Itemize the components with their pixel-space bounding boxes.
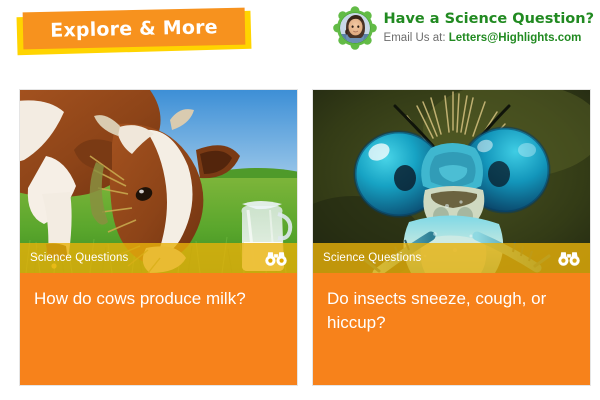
ask-a-science-question-block[interactable]: Have a Science Question? Email Us at: Le… [333, 6, 594, 50]
binoculars-icon [265, 251, 287, 266]
email-address-link[interactable]: Letters@Highlights.com [449, 32, 582, 44]
page-header: Explore & More [0, 0, 600, 78]
card-title[interactable]: How do cows produce milk? [20, 273, 297, 311]
banner-orange-plate: Explore & More [23, 8, 246, 50]
ask-email-line: Email Us at: Letters@Highlights.com [384, 30, 594, 46]
card-photo-insect: Science Questions [313, 90, 590, 273]
banner-label: Explore & More [50, 16, 218, 42]
email-prefix-label: Email Us at: [384, 32, 446, 44]
child-photo-badge-icon [333, 6, 377, 50]
article-card-cow[interactable]: Science Questions How do cows produce mi… [20, 90, 297, 385]
card-category-bar[interactable]: Science Questions [20, 243, 297, 273]
article-card-insect[interactable]: Science Questions Do insects sneeze, cou… [313, 90, 590, 385]
ask-text-group: Have a Science Question? Email Us at: Le… [384, 10, 594, 46]
card-category-label: Science Questions [30, 252, 265, 264]
card-photo-cow: Science Questions [20, 90, 297, 273]
binoculars-icon [558, 251, 580, 266]
explore-and-more-banner[interactable]: Explore & More [14, 10, 254, 56]
card-category-label: Science Questions [323, 252, 558, 264]
card-title[interactable]: Do insects sneeze, cough, or hiccup? [313, 273, 590, 335]
card-category-bar[interactable]: Science Questions [313, 243, 590, 273]
ask-headline: Have a Science Question? [384, 11, 594, 28]
